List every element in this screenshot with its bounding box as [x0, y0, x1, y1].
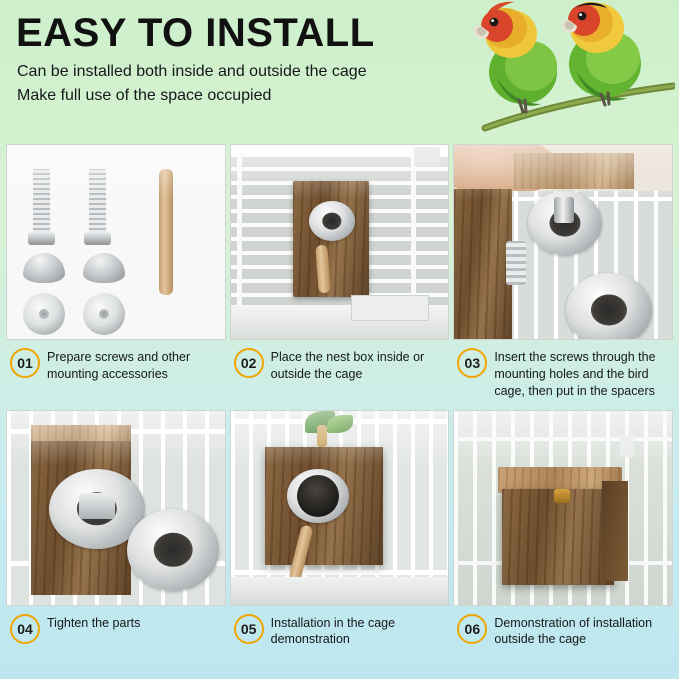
step-text-01: Prepare screws and other mounting access…	[47, 347, 224, 383]
photo-mounting-hardware-parts	[6, 144, 226, 340]
step-text-06: Demonstration of installation outside th…	[494, 613, 671, 649]
caption-02: 02 Place the nest box inside or outside …	[230, 340, 450, 396]
step-badge-01: 01	[10, 348, 40, 378]
header: EASY TO INSTALL Can be installed both in…	[0, 0, 679, 140]
lovebird-parrots-illustration	[445, 0, 675, 140]
step-badge-05: 05	[234, 614, 264, 644]
step-text-05: Installation in the cage demonstration	[271, 613, 448, 649]
step-text-03: Insert the screws through the mounting h…	[494, 347, 671, 400]
step-text-02: Place the nest box inside or outside the…	[271, 347, 448, 383]
step-card-03: 03 Insert the screws through the mountin…	[453, 144, 673, 406]
caption-03: 03 Insert the screws through the mountin…	[453, 340, 673, 400]
product-infographic: EASY TO INSTALL Can be installed both in…	[0, 0, 679, 679]
step-card-05: 05 Installation in the cage demonstratio…	[230, 410, 450, 672]
step-card-01: 01 Prepare screws and other mounting acc…	[6, 144, 226, 406]
caption-05: 05 Installation in the cage demonstratio…	[230, 606, 450, 662]
caption-01: 01 Prepare screws and other mounting acc…	[6, 340, 226, 396]
photo-screws-through-mounting-holes	[453, 144, 673, 340]
caption-04: 04 Tighten the parts	[6, 606, 226, 662]
photo-installation-outside-cage	[453, 410, 673, 606]
photo-nest-box-placed-in-cage	[230, 144, 450, 340]
caption-06: 06 Demonstration of installation outside…	[453, 606, 673, 662]
step-badge-02: 02	[234, 348, 264, 378]
photo-tighten-the-parts	[6, 410, 226, 606]
step-badge-03: 03	[457, 348, 487, 378]
photo-installation-inside-cage	[230, 410, 450, 606]
step-text-04: Tighten the parts	[47, 613, 140, 632]
step-badge-06: 06	[457, 614, 487, 644]
step-badge-04: 04	[10, 614, 40, 644]
step-card-06: 06 Demonstration of installation outside…	[453, 410, 673, 672]
step-card-04: 04 Tighten the parts	[6, 410, 226, 672]
step-card-02: 02 Place the nest box inside or outside …	[230, 144, 450, 406]
steps-grid: 01 Prepare screws and other mounting acc…	[0, 140, 679, 679]
